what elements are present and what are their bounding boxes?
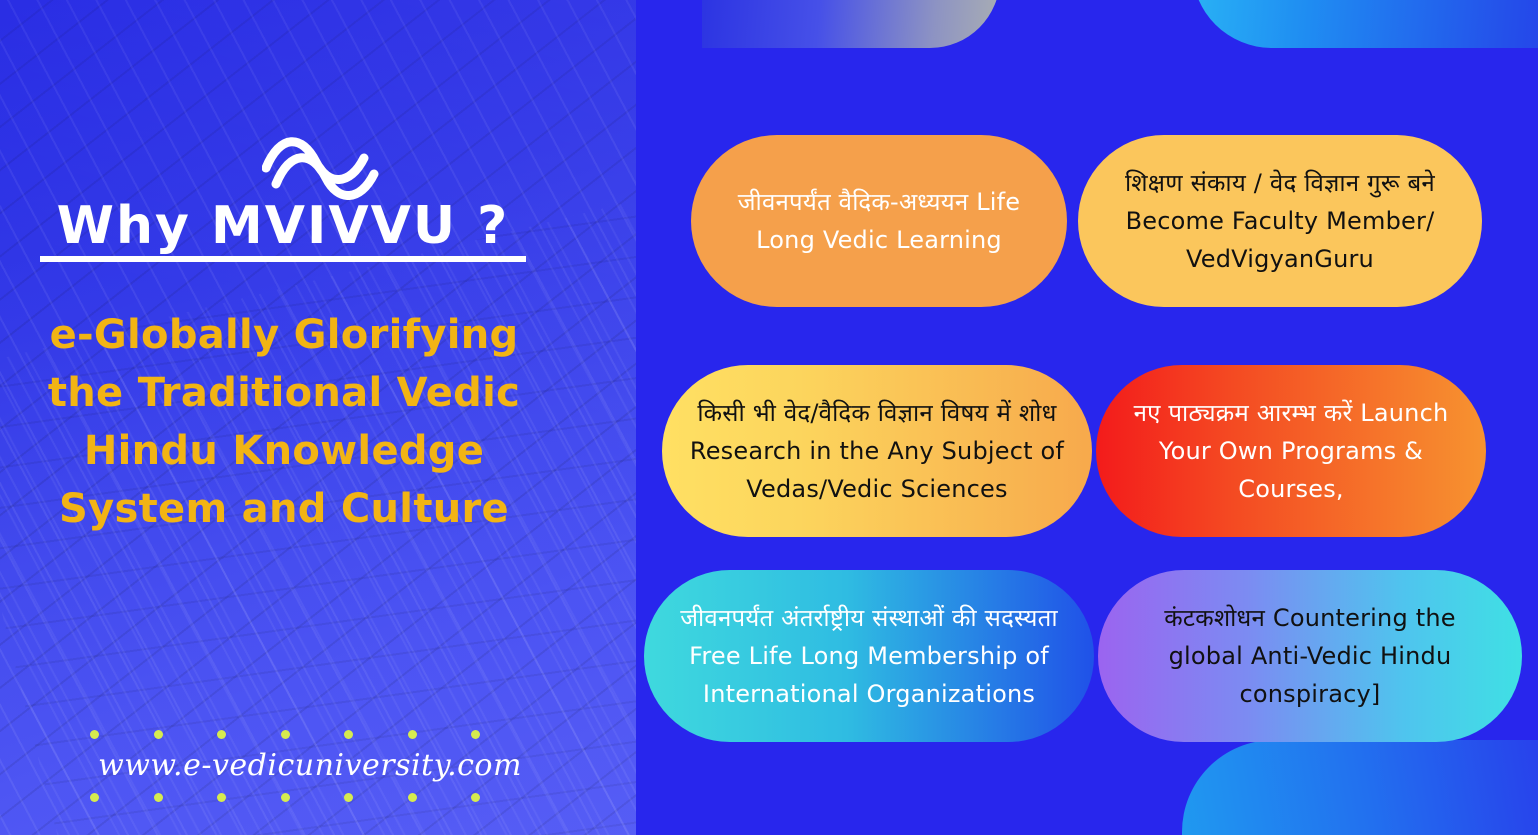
benefit-card-research-in-vedas[interactable]: किसी भी वेद/वैदिक विज्ञान विषय में शोध R… <box>662 365 1092 537</box>
page-title: Why MVIVVU ? <box>0 196 566 256</box>
benefit-card-life-long-vedic-learning[interactable]: जीवनपर्यंत वैदिक-अध्ययन Life Long Vedic … <box>691 135 1067 307</box>
title-underline <box>40 256 526 262</box>
left-panel-content: Why MVIVVU ? e-Globally Glorifying the T… <box>0 0 636 835</box>
benefit-card-countering-anti-vedic-conspiracy[interactable]: कंटकशोधन Countering the global Anti-Vedi… <box>1098 570 1522 742</box>
benefit-card-launch-programs-courses[interactable]: नए पाठ्यक्रम आरम्भ करें Launch Your Own … <box>1096 365 1486 537</box>
website-url-block: www.e-vedicuniversity.com <box>60 730 560 802</box>
decorative-dot <box>281 793 290 802</box>
benefit-card-free-membership-international-organizations[interactable]: जीवनपर्यंत अंतर्राष्ट्रीय संस्थाओं की सद… <box>644 570 1094 742</box>
website-url-link[interactable]: www.e-vedicuniversity.com <box>60 748 560 783</box>
decorative-dot <box>471 730 480 739</box>
left-hero-panel: Why MVIVVU ? e-Globally Glorifying the T… <box>0 0 636 835</box>
tagline-text: e-Globally Glorifying the Traditional Ve… <box>24 306 544 538</box>
decorative-dot <box>154 730 163 739</box>
benefit-card-become-faculty-member[interactable]: शिक्षण संकाय / वेद विज्ञान गुरू बने Beco… <box>1078 135 1482 307</box>
decorative-dot <box>154 793 163 802</box>
decorative-dot <box>217 793 226 802</box>
dot-row-top <box>90 730 480 739</box>
decorative-dot <box>344 793 353 802</box>
right-benefits-panel: जीवनपर्यंत वैदिक-अध्ययन Life Long Vedic … <box>636 0 1538 835</box>
decorative-dot <box>408 793 417 802</box>
decorative-dot <box>344 730 353 739</box>
decorative-dot <box>90 730 99 739</box>
wave-logo-icon <box>262 128 384 200</box>
decorative-dot <box>281 730 290 739</box>
benefit-card-grid: जीवनपर्यंत वैदिक-अध्ययन Life Long Vedic … <box>636 0 1538 835</box>
dot-row-bottom <box>90 793 480 802</box>
decorative-dot <box>217 730 226 739</box>
decorative-dot <box>471 793 480 802</box>
decorative-dot <box>90 793 99 802</box>
poster-canvas: Why MVIVVU ? e-Globally Glorifying the T… <box>0 0 1538 835</box>
decorative-dot <box>408 730 417 739</box>
